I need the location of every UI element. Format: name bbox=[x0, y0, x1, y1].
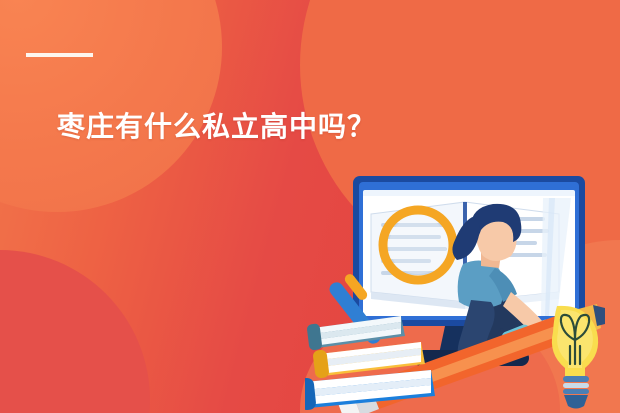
study-search-illustration bbox=[305, 168, 620, 413]
book-stack-icon bbox=[305, 316, 435, 411]
page-title: 枣庄有什么私立高中吗？ bbox=[57, 110, 376, 144]
accent-rule bbox=[26, 53, 93, 57]
promo-banner: 枣庄有什么私立高中吗？ bbox=[0, 0, 620, 413]
lightbulb-icon bbox=[552, 306, 598, 409]
